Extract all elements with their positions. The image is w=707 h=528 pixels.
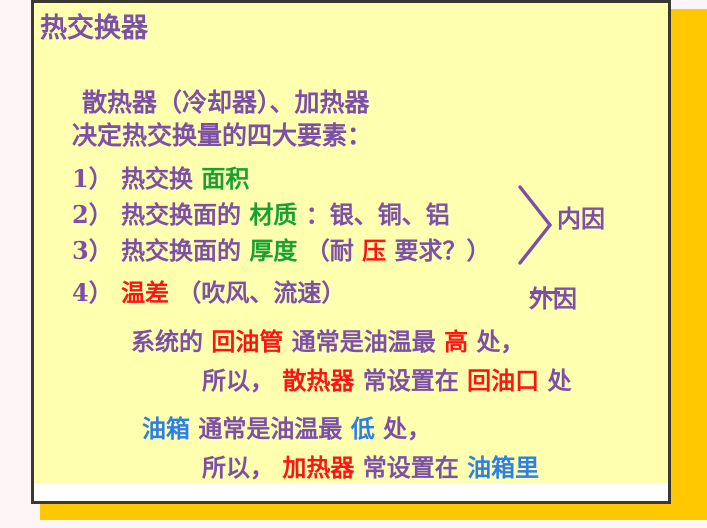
factor-item-4-seg-1: （吹风、流速）	[177, 278, 345, 307]
note-3-seg-1: 通常是油温最	[198, 414, 342, 443]
factor-item-3-seg-1: 厚度	[249, 236, 297, 265]
factor-item-3-seg-0: 热交换面的	[121, 236, 241, 265]
factor-item-4-number: 4）	[72, 278, 113, 307]
factor-item-3-seg-3: 压	[362, 236, 386, 265]
note-2-seg-4: 处	[547, 366, 571, 395]
factor-item-3-number: 3）	[72, 236, 113, 265]
internal-cause-brace-icon	[516, 185, 556, 265]
note-2-seg-1: 散热器	[282, 366, 354, 395]
note-1-seg-4: 处，	[476, 327, 524, 356]
slide-title: 热交换器	[40, 6, 148, 45]
note-1-seg-1: 回油管	[211, 327, 283, 356]
note-4-seg-3: 油箱里	[467, 453, 539, 482]
slide-content: 热交换器 散热器（冷却器）、加热器 决定热交换量的四大要素： 1） 热交换 面积…	[34, 3, 668, 501]
factor-item-2-seg-0: 热交换面的	[121, 200, 241, 229]
note-4-seg-1: 加热器	[282, 453, 354, 482]
external-cause-label: 外因	[529, 279, 577, 314]
factor-item-4: 4） 温差 （吹风、流速）	[72, 273, 345, 308]
note-1-seg-2: 通常是油温最	[292, 327, 436, 356]
note-3-seg-0: 油箱	[142, 414, 190, 443]
slide-panel: 热交换器 散热器（冷却器）、加热器 决定热交换量的四大要素： 1） 热交换 面积…	[31, 0, 671, 504]
factor-item-2-number: 2）	[72, 200, 113, 229]
factor-item-3-seg-4: 要求？）	[395, 236, 491, 265]
note-3-seg-3: 处，	[383, 414, 431, 443]
factor-item-3-seg-2: （耐	[306, 236, 354, 265]
note-2-seg-2: 常设置在	[363, 366, 459, 395]
factor-item-1-number: 1）	[72, 164, 113, 193]
factor-item-1: 1） 热交换 面积	[72, 159, 249, 194]
factor-item-2: 2） 热交换面的 材质 ：银、铜、铝	[72, 195, 450, 230]
factor-item-2-seg-1: 材质	[249, 200, 297, 229]
factor-item-1-seg-1: 面积	[201, 164, 249, 193]
note-line-4: 所以， 加热器 常设置在 油箱里	[202, 448, 539, 483]
note-1-seg-0: 系统的	[131, 327, 203, 356]
note-1-seg-3: 高	[444, 327, 468, 356]
note-line-2: 所以， 散热器 常设置在 回油口 处	[202, 361, 571, 396]
factors-heading: 决定热交换量的四大要素：	[72, 116, 372, 152]
note-2-seg-3: 回油口	[467, 366, 539, 395]
factor-item-4-seg-0: 温差	[121, 278, 169, 307]
internal-cause-label: 内因	[557, 199, 605, 234]
note-4-seg-0: 所以，	[202, 453, 274, 482]
factor-item-2-seg-2: ：银、铜、铝	[306, 200, 450, 229]
factor-item-3: 3） 热交换面的 厚度 （耐 压 要求？）	[72, 231, 491, 266]
note-line-1: 系统的 回油管 通常是油温最 高 处，	[131, 322, 524, 357]
slide-bottom-band	[34, 483, 668, 501]
note-3-seg-2: 低	[351, 414, 375, 443]
slide-subtitle: 散热器（冷却器）、加热器	[82, 83, 370, 119]
note-2-seg-0: 所以，	[202, 366, 274, 395]
note-line-3: 油箱 通常是油温最 低 处，	[142, 409, 431, 444]
note-4-seg-2: 常设置在	[363, 453, 459, 482]
factor-item-1-seg-0: 热交换	[121, 164, 193, 193]
